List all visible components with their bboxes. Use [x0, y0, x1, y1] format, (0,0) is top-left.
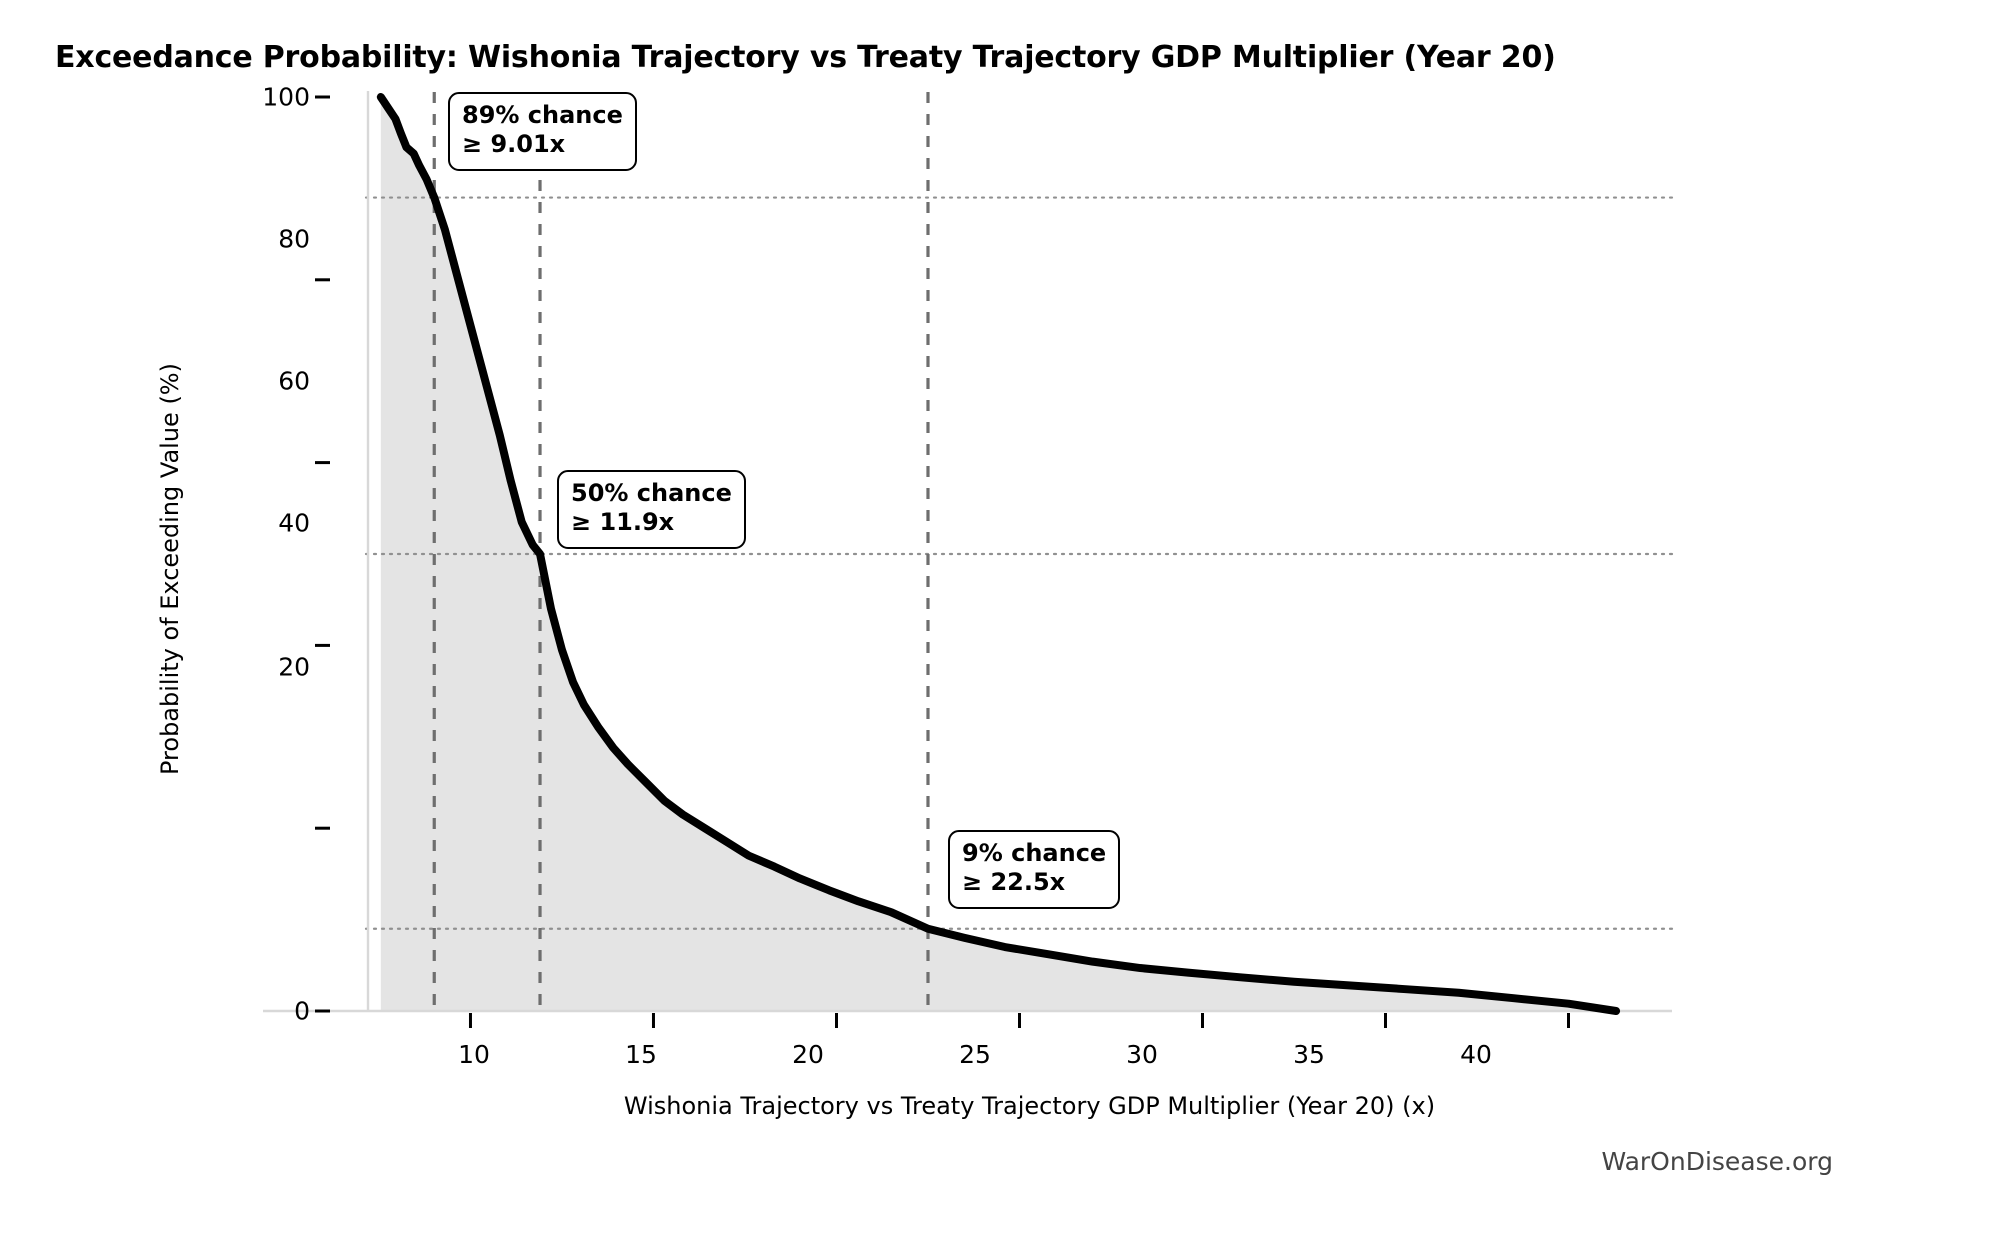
- annotation-9-percent: 9% chance ≥ 22.5x: [948, 830, 1120, 909]
- exceedance-probability-plot: [0, 0, 2007, 1234]
- annotation-50-percent: 50% chance ≥ 11.9x: [557, 470, 746, 549]
- x-tick-25: 25: [959, 1040, 991, 1069]
- y-tick-20: 20: [250, 653, 310, 682]
- x-tick-10: 10: [458, 1040, 490, 1069]
- x-tick-20: 20: [792, 1040, 824, 1069]
- x-tick-40: 40: [1460, 1040, 1492, 1069]
- chart-page: Exceedance Probability: Wishonia Traject…: [0, 0, 2007, 1234]
- annotation-89-line2: ≥ 9.01x: [462, 130, 623, 159]
- annotation-9-line1: 9% chance: [962, 839, 1106, 868]
- y-tick-60: 60: [250, 367, 310, 396]
- annotation-50-line1: 50% chance: [571, 479, 732, 508]
- annotation-50-line2: ≥ 11.9x: [571, 508, 732, 537]
- x-tick-35: 35: [1293, 1040, 1325, 1069]
- annotation-9-line2: ≥ 22.5x: [962, 868, 1106, 897]
- annotation-89-percent: 89% chance ≥ 9.01x: [448, 92, 637, 171]
- x-tick-30: 30: [1126, 1040, 1158, 1069]
- annotation-89-line1: 89% chance: [462, 101, 623, 130]
- x-tick-15: 15: [625, 1040, 657, 1069]
- y-tick-80: 80: [250, 225, 310, 254]
- y-tick-100: 100: [250, 83, 310, 112]
- y-tick-0: 0: [250, 997, 310, 1026]
- watermark: WarOnDisease.org: [1601, 1147, 1833, 1176]
- y-axis-label: Probability of Exceeding Value (%): [156, 289, 184, 849]
- y-tick-40: 40: [250, 509, 310, 538]
- x-axis-label: Wishonia Trajectory vs Treaty Trajectory…: [0, 1092, 2007, 1120]
- x-axis-label-text: Wishonia Trajectory vs Treaty Trajectory…: [624, 1092, 1435, 1120]
